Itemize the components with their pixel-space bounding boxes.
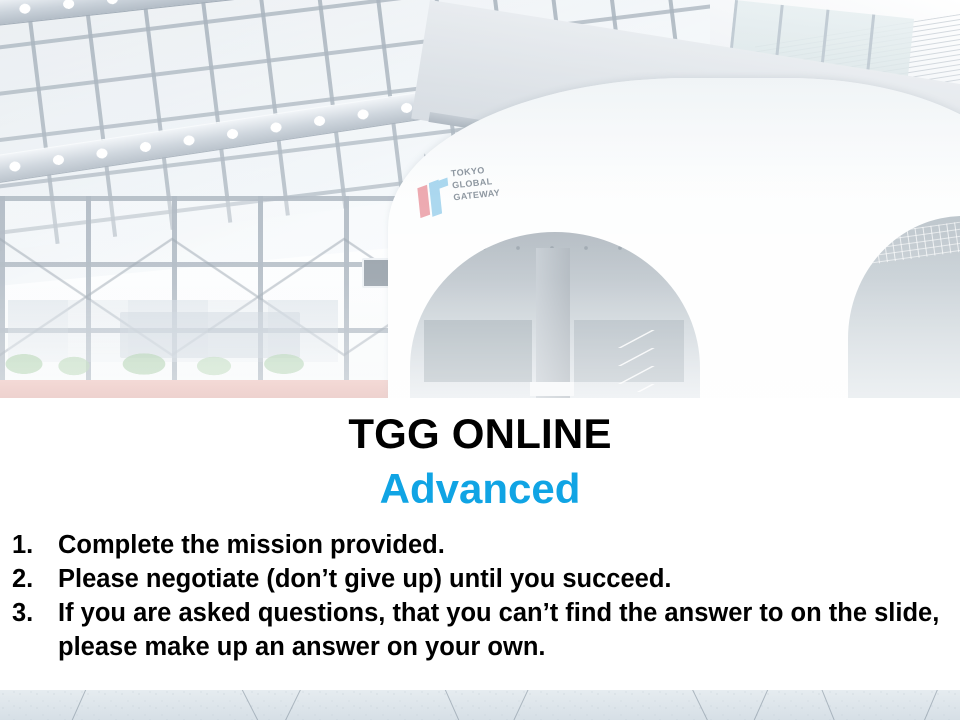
footer-tile-strip — [0, 690, 960, 720]
list-item-number: 1. — [12, 528, 46, 562]
list-item: 1. Complete the mission provided. — [12, 528, 948, 562]
list-item-text: If you are asked questions, that you can… — [58, 599, 939, 661]
list-item-number: 2. — [12, 562, 46, 596]
outdoor-trees — [4, 348, 334, 376]
reception-desk — [530, 382, 574, 396]
logo-wordmark: TOKYO GLOBAL GATEWAY — [450, 163, 500, 204]
tokyo-global-gateway-logo: TOKYO GLOBAL GATEWAY — [416, 161, 517, 223]
interior-column — [536, 248, 570, 398]
tgg-logo-mark-icon — [417, 180, 451, 219]
tile-texture — [0, 690, 960, 720]
list-item: 2. Please negotiate (don’t give up) unti… — [12, 562, 948, 596]
slide: TOKYO GLOBAL GATEWAY TGG ONLINE Advanced… — [0, 0, 960, 720]
logo-red-bar — [417, 185, 430, 218]
slide-title: TGG ONLINE — [0, 409, 960, 459]
interior-glass-left — [424, 320, 532, 382]
list-item-text: Complete the mission provided. — [58, 531, 445, 559]
red-floor-band — [0, 380, 420, 398]
instruction-list: 1. Complete the mission provided. 2. Ple… — [12, 528, 948, 664]
list-item: 3. If you are asked questions, that you … — [12, 596, 948, 664]
list-item-number: 3. — [12, 596, 46, 630]
slide-subtitle: Advanced — [0, 464, 960, 514]
escalator — [576, 330, 696, 392]
header-photo: TOKYO GLOBAL GATEWAY — [0, 0, 960, 398]
list-item-text: Please negotiate (don’t give up) until y… — [58, 565, 672, 593]
